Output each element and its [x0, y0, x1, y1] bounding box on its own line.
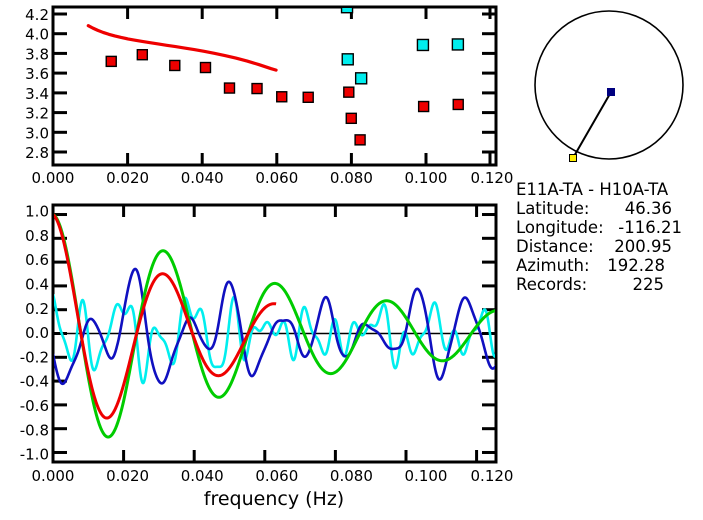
dispersion-point	[417, 39, 428, 50]
dispersion-point	[252, 84, 262, 94]
dispersion-xtick-2: 0.040	[181, 169, 224, 187]
waveform-ytick-10: -1.0	[20, 446, 49, 464]
distance-value: 200.95	[614, 237, 672, 256]
dispersion-xtick-5: 0.100	[405, 169, 448, 187]
dispersion-point	[106, 56, 116, 66]
waveform-ytick-6: -0.2	[20, 348, 49, 366]
longitude-value: -116.21	[618, 218, 682, 237]
waveform-xtick-0: 0.000	[32, 467, 75, 485]
azimuth-value: 192.28	[607, 256, 665, 275]
dispersion-ytick-7: 2.8	[25, 144, 49, 162]
waveform-ytick-7: -0.4	[20, 373, 49, 391]
dispersion-y-labels: 4.2 4.0 3.8 3.6 3.4 3.2 3.0 2.8	[25, 6, 49, 162]
waveform-xtick-4: 0.080	[330, 467, 373, 485]
dispersion-point	[342, 54, 353, 65]
waveform-ytick-9: -0.8	[20, 421, 49, 439]
dispersion-point	[346, 113, 356, 123]
dispersion-point	[303, 92, 313, 102]
dispersion-ytick-0: 4.2	[25, 6, 49, 24]
event-marker-icon	[570, 155, 577, 162]
dispersion-point	[452, 39, 463, 50]
dispersion-xtick-3: 0.060	[255, 169, 298, 187]
waveform-xtick-5: 0.100	[405, 467, 448, 485]
dispersion-point	[453, 99, 463, 109]
station-marker-icon	[607, 88, 615, 96]
dispersion-xtick-4: 0.080	[330, 169, 373, 187]
distance-label: Distance:	[516, 237, 594, 256]
waveform-xtick-3: 0.060	[255, 467, 298, 485]
dispersion-ytick-3: 3.6	[25, 65, 49, 83]
waveform-ytick-5: 0.0	[25, 324, 49, 342]
dispersion-point	[170, 60, 180, 70]
figure-root: 4.2 4.0 3.8 3.6 3.4 3.2 3.0 2.8 0.000 0.…	[0, 0, 703, 520]
dispersion-xtick-6: 0.120	[471, 169, 514, 187]
dispersion-point	[224, 83, 234, 93]
waveform-ytick-2: 0.6	[25, 251, 49, 269]
waveform-axis-title: frequency (Hz)	[204, 488, 344, 510]
azimuth-label: Azimuth:	[516, 256, 590, 275]
dispersion-ytick-5: 3.2	[25, 105, 49, 123]
latitude-label: Latitude:	[516, 199, 589, 218]
canvas-background	[0, 0, 703, 520]
dispersion-xtick-0: 0.000	[32, 169, 75, 187]
waveform-ytick-3: 0.4	[25, 276, 49, 294]
waveform-xtick-6: 0.120	[471, 467, 514, 485]
waveform-ytick-0: 1.0	[25, 203, 49, 221]
waveform-ytick-8: -0.6	[20, 397, 49, 415]
records-value: 225	[633, 275, 665, 294]
dispersion-point	[344, 87, 354, 97]
station-pair-title: E11A-TA - H10A-TA	[516, 180, 669, 199]
dispersion-xtick-1: 0.020	[106, 169, 149, 187]
waveform-ytick-4: 0.2	[25, 300, 49, 318]
dispersion-point	[355, 135, 365, 145]
dispersion-ytick-1: 4.0	[25, 26, 49, 44]
dispersion-point	[137, 50, 147, 60]
dispersion-ytick-2: 3.8	[25, 45, 49, 63]
dispersion-point	[200, 63, 210, 73]
dispersion-ytick-4: 3.4	[25, 85, 49, 103]
waveform-xtick-1: 0.020	[106, 467, 149, 485]
plot-canvas: 4.2 4.0 3.8 3.6 3.4 3.2 3.0 2.8 0.000 0.…	[0, 0, 703, 520]
waveform-ytick-1: 0.8	[25, 227, 49, 245]
dispersion-ytick-6: 3.0	[25, 124, 49, 142]
waveform-xtick-2: 0.040	[181, 467, 224, 485]
dispersion-point	[419, 102, 429, 112]
latitude-value: 46.36	[625, 199, 672, 218]
dispersion-point	[356, 73, 367, 84]
records-label: Records:	[516, 275, 587, 294]
dispersion-point	[277, 92, 287, 102]
longitude-label: Longitude:	[516, 218, 604, 237]
